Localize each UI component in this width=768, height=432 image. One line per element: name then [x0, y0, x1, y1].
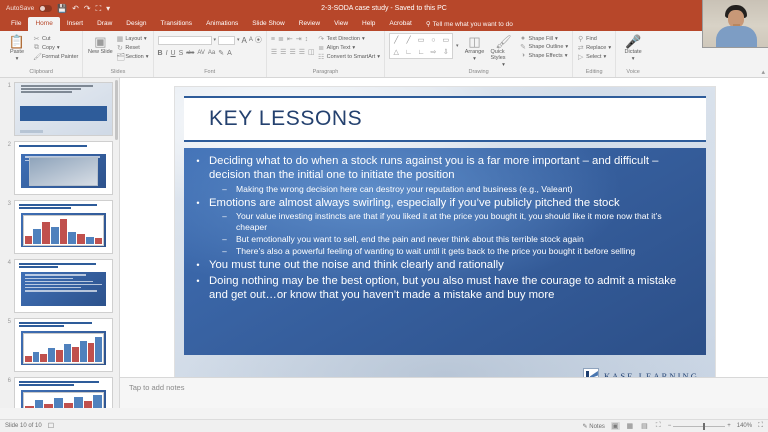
- accessibility-icon[interactable]: ☐: [48, 422, 54, 430]
- save-icon[interactable]: 💾: [57, 4, 67, 13]
- thumbnail-number: 5: [3, 318, 11, 325]
- bullet-marker: •: [194, 274, 202, 303]
- text-shadow-button[interactable]: S: [179, 50, 184, 57]
- paragraph-group-label: Paragraph: [271, 69, 380, 77]
- search-icon: ⚲: [577, 35, 584, 43]
- zoom-slider[interactable]: − +: [668, 423, 731, 429]
- undo-icon[interactable]: ↶: [72, 4, 79, 13]
- quick-styles-icon: 🖌: [495, 35, 512, 48]
- bullet-text: Making the wrong decision here can destr…: [236, 184, 573, 195]
- bullet-item: – There’s also a powerful feeling of wan…: [194, 246, 692, 257]
- convert-smartart-button[interactable]: ☷ Convert to SmartArt ▾: [318, 53, 380, 61]
- tab-insert[interactable]: Insert: [60, 17, 90, 31]
- shape-outline-label: Shape Outline: [529, 44, 564, 50]
- new-slide-icon: ▣: [94, 35, 106, 48]
- chevron-down-icon: ▾: [565, 53, 568, 59]
- slide-title-placeholder[interactable]: KEY LESSONS: [184, 96, 706, 142]
- slides-group-label: Slides: [87, 69, 148, 77]
- find-label: Find: [586, 36, 597, 42]
- chevron-down-icon: ▾: [57, 45, 60, 51]
- tab-slide-show[interactable]: Slide Show: [245, 17, 292, 31]
- chevron-down-icon: ▾: [608, 45, 611, 51]
- bullet-item: – Your value investing instincts are tha…: [194, 211, 692, 233]
- font-group-label: Font: [158, 69, 262, 77]
- bullet-marker: •: [194, 154, 202, 183]
- slideshow-icon[interactable]: ⛶: [655, 422, 662, 430]
- tab-file[interactable]: File: [4, 17, 28, 31]
- text-direction-button[interactable]: ↷ Text Direction ▾: [318, 35, 380, 43]
- zoom-level-label[interactable]: 140%: [737, 423, 752, 429]
- bullet-item: • Deciding what to do when a stock runs …: [194, 154, 692, 183]
- shape-fill-button[interactable]: ● Shape Fill ▾: [520, 35, 569, 42]
- search-icon: ⚲: [426, 20, 431, 28]
- tab-acrobat[interactable]: Acrobat: [382, 17, 418, 31]
- status-bar: Slide 10 of 10 ☐ ✎ Notes ▣ ▦ ▤ ⛶ − + 140…: [0, 419, 768, 432]
- new-slide-label: New Slide: [88, 49, 113, 55]
- shapes-more-icon[interactable]: ▾: [456, 33, 459, 49]
- chevron-down-icon: ▾: [502, 62, 505, 68]
- dictate-button[interactable]: 🎤 Dictate ▾: [620, 33, 646, 62]
- tab-help[interactable]: Help: [355, 17, 382, 31]
- chevron-down-icon[interactable]: ▾: [214, 37, 217, 43]
- tab-review[interactable]: Review: [292, 17, 327, 31]
- clipboard-group-label: Clipboard: [4, 69, 78, 77]
- replace-icon: ⇄: [577, 44, 584, 52]
- bullet-marker: –: [220, 234, 229, 245]
- thumbnail-number: 3: [3, 200, 11, 207]
- notes-toggle-button[interactable]: ✎ Notes: [583, 423, 605, 430]
- smartart-icon: ☷: [318, 53, 325, 61]
- redo-icon[interactable]: ↷: [84, 4, 91, 13]
- bullet-item: • Emotions are almost always swirling, e…: [194, 196, 692, 210]
- tell-me-search[interactable]: ⚲ Tell me what you want to do: [419, 18, 520, 31]
- paintbrush-icon: 🖌: [33, 53, 40, 61]
- arrow-shape-icon[interactable]: ╱: [407, 36, 411, 44]
- scissors-icon: ✂: [33, 35, 40, 43]
- layout-icon: ▦: [116, 35, 123, 43]
- paste-label: Paste: [10, 49, 24, 55]
- slide-thumbnail-5[interactable]: 5: [0, 318, 119, 377]
- new-slide-button[interactable]: ▣ New Slide: [87, 33, 113, 55]
- reading-view-icon[interactable]: ▤: [640, 422, 649, 430]
- bullet-text: You must tune out the noise and think cl…: [209, 258, 504, 272]
- cut-button[interactable]: ✂ Cut: [33, 35, 78, 43]
- reset-button[interactable]: ↻ Reset: [116, 44, 148, 52]
- highlight-icon[interactable]: ✎: [218, 49, 224, 57]
- justify-icon[interactable]: ☰: [299, 48, 305, 56]
- notes-pane[interactable]: Tap to add notes: [120, 377, 768, 408]
- thumbnail-number: 6: [3, 377, 11, 384]
- find-button[interactable]: ⚲ Find: [577, 35, 611, 43]
- change-case-button[interactable]: Aa: [208, 50, 215, 56]
- thumbnail-number: 2: [3, 141, 11, 148]
- line-shape-icon[interactable]: ╱: [394, 36, 398, 44]
- bullet-item: – But emotionally you want to sell, end …: [194, 234, 692, 245]
- tab-design[interactable]: Design: [119, 17, 153, 31]
- chevron-down-icon: ▾: [603, 54, 606, 60]
- tab-animations[interactable]: Animations: [199, 17, 245, 31]
- chevron-down-icon: ▾: [473, 56, 476, 62]
- thumbnail-scrollbar[interactable]: [114, 78, 119, 408]
- quick-styles-button[interactable]: 🖌 Quick Styles ▾: [491, 33, 517, 68]
- chevron-down-icon: ▾: [16, 56, 19, 62]
- ribbon-tabs: File Home Insert Draw Design Transitions…: [0, 17, 768, 31]
- editing-group-label: Editing: [577, 69, 611, 77]
- section-icon: 🗂: [116, 53, 123, 61]
- bullets-icon[interactable]: ≡: [271, 36, 275, 43]
- replace-button[interactable]: ⇄ Replace ▾: [577, 44, 611, 52]
- oval-shape-icon[interactable]: ○: [431, 37, 435, 44]
- slide-counter: Slide 10 of 10: [5, 423, 42, 429]
- text-direction-icon: ↷: [318, 35, 325, 43]
- reset-icon: ↻: [116, 44, 123, 52]
- ribbon: 📋 Paste ▾ ✂ Cut ⧉ Copy ▾ 🖌: [0, 31, 768, 78]
- decrease-indent-icon[interactable]: ⇤: [287, 35, 293, 43]
- current-slide[interactable]: KEY LESSONS • Deciding what to do when a…: [175, 87, 715, 391]
- convert-smartart-label: Convert to SmartArt: [327, 54, 376, 60]
- copy-button[interactable]: ⧉ Copy ▾: [33, 44, 78, 52]
- quick-styles-label: Quick Styles: [491, 49, 517, 61]
- drawing-group-label: Drawing: [389, 69, 568, 77]
- shrink-font-button[interactable]: A: [249, 37, 253, 43]
- shape-fill-icon: ●: [520, 35, 527, 42]
- tab-draw[interactable]: Draw: [90, 17, 119, 31]
- grow-font-button[interactable]: A: [242, 36, 247, 45]
- ribbon-group-font: ▾ ▾ A A ⦿ B I U S abc AV Aa: [153, 31, 266, 77]
- present-icon[interactable]: ⛶: [96, 4, 102, 14]
- font-size-input[interactable]: [218, 36, 235, 45]
- character-spacing-button[interactable]: AV: [197, 50, 205, 56]
- bullet-marker: –: [220, 184, 229, 195]
- shape-effects-label: Shape Effects: [529, 53, 563, 59]
- bullet-item: • Doing nothing may be the best option, …: [194, 274, 692, 303]
- chevron-down-icon: ▾: [146, 54, 149, 60]
- font-color-button[interactable]: A: [227, 50, 232, 57]
- ribbon-group-clipboard: 📋 Paste ▾ ✂ Cut ⧉ Copy ▾ 🖌: [0, 31, 82, 77]
- zoom-out-button[interactable]: −: [668, 423, 672, 429]
- right-arrow-shape-icon[interactable]: ⇨: [430, 48, 436, 56]
- tab-transitions[interactable]: Transitions: [154, 17, 200, 31]
- quick-access-toolbar: AutoSave 💾 ↶ ↷ ⛶ ▾: [0, 4, 210, 14]
- powerpoint-window: AutoSave 💾 ↶ ↷ ⛶ ▾ 2-3-SODA case study -…: [0, 0, 768, 432]
- reset-label: Reset: [125, 45, 139, 51]
- slide-thumbnail-pane[interactable]: 1 2 3: [0, 78, 120, 408]
- format-painter-label: Format Painter: [42, 54, 78, 60]
- section-label: Section: [125, 54, 143, 60]
- bullet-item: – Making the wrong decision here can des…: [194, 184, 692, 195]
- bullet-text: Your value investing instincts are that …: [236, 211, 692, 233]
- slide-thumbnail-3[interactable]: 3: [0, 200, 119, 259]
- bullet-text: But emotionally you want to sell, end th…: [236, 234, 584, 245]
- columns-icon[interactable]: ◫: [308, 48, 315, 56]
- bullet-text: Emotions are almost always swirling, esp…: [209, 196, 620, 210]
- microphone-icon: 🎤: [625, 35, 641, 48]
- align-center-icon[interactable]: ☰: [280, 48, 286, 56]
- slide-sorter-icon[interactable]: ▦: [626, 422, 635, 430]
- bullet-marker: –: [220, 246, 229, 257]
- replace-label: Replace: [586, 45, 606, 51]
- voice-group-label: Voice: [620, 69, 646, 77]
- autosave-label: AutoSave: [6, 5, 34, 12]
- cut-label: Cut: [42, 36, 51, 42]
- select-icon: ▷: [577, 53, 584, 61]
- curved-connector-icon[interactable]: ∟: [418, 49, 425, 56]
- ribbon-group-paragraph: ≡ ≣ ⇤ ⇥ ↕ ☰ ☰ ☰ ☰ ◫: [266, 31, 384, 77]
- normal-view-icon[interactable]: ▣: [611, 422, 620, 430]
- text-direction-label: Text Direction: [327, 36, 360, 42]
- chevron-down-icon: ▾: [362, 36, 365, 42]
- slide-editing-stage: KEY LESSONS • Deciding what to do when a…: [120, 78, 768, 408]
- ribbon-group-voice: 🎤 Dictate ▾ Voice: [615, 31, 650, 77]
- elbow-connector-icon[interactable]: ∟: [405, 49, 412, 56]
- notes-toggle-label: Notes: [589, 424, 605, 430]
- tell-me-label: Tell me what you want to do: [433, 21, 513, 28]
- chevron-down-icon: ▾: [144, 36, 147, 42]
- chevron-down-icon: ▾: [632, 56, 635, 62]
- clear-formatting-icon[interactable]: ⦿: [255, 35, 262, 45]
- tab-view[interactable]: View: [327, 17, 355, 31]
- align-text-label: Align Text: [327, 45, 351, 51]
- arrange-label: Arrange: [465, 49, 485, 55]
- down-arrow-shape-icon[interactable]: ⇩: [443, 48, 449, 56]
- shape-effects-icon: ◑: [520, 52, 527, 59]
- bullet-marker: •: [194, 258, 202, 272]
- fit-to-window-icon[interactable]: ⛶: [758, 422, 763, 430]
- align-left-icon[interactable]: ☰: [271, 48, 277, 56]
- shapes-gallery[interactable]: ╱ ╱ ▭ ○ ▭ △ ∟ ∟ ⇨ ⇩: [389, 33, 453, 59]
- increase-indent-icon[interactable]: ⇥: [296, 35, 302, 43]
- chevron-down-icon[interactable]: ▾: [106, 4, 110, 13]
- slide-thumbnail-1[interactable]: 1: [0, 82, 119, 141]
- notes-placeholder: Tap to add notes: [129, 383, 184, 392]
- triangle-shape-icon[interactable]: △: [394, 48, 399, 56]
- arrange-icon: ◫: [468, 35, 480, 48]
- webcam-person-body: [716, 26, 757, 48]
- bullet-item: • You must tune out the noise and think …: [194, 258, 692, 272]
- thumbnail-number: 1: [3, 82, 11, 89]
- chevron-down-icon[interactable]: ▾: [237, 37, 240, 43]
- thumbnail-number: 4: [3, 259, 11, 266]
- autosave-toggle[interactable]: [39, 5, 52, 12]
- copy-label: Copy: [42, 45, 55, 51]
- dictate-label: Dictate: [625, 49, 642, 55]
- zoom-in-button[interactable]: +: [727, 423, 731, 429]
- align-text-icon: ≣: [318, 44, 325, 52]
- rectangle-shape-icon[interactable]: ▭: [418, 36, 425, 44]
- chevron-down-icon: ▾: [565, 44, 568, 50]
- layout-button[interactable]: ▦ Layout ▾: [116, 35, 148, 43]
- italic-button[interactable]: I: [166, 50, 168, 57]
- layout-label: Layout: [125, 36, 142, 42]
- bullet-text: Doing nothing may be the best option, bu…: [209, 274, 692, 303]
- bullet-text: Deciding what to do when a stock runs ag…: [209, 154, 692, 183]
- tab-home[interactable]: Home: [28, 17, 59, 31]
- paste-icon: 📋: [9, 35, 25, 48]
- select-button[interactable]: ▷ Select ▾: [577, 53, 611, 61]
- arrange-button[interactable]: ◫ Arrange ▾: [462, 33, 488, 62]
- rounded-rect-shape-icon[interactable]: ▭: [442, 36, 449, 44]
- chevron-down-icon: ▾: [555, 36, 558, 42]
- page-title: KEY LESSONS: [184, 107, 362, 131]
- ribbon-group-drawing: ╱ ╱ ▭ ○ ▭ △ ∟ ∟ ⇨ ⇩ ▾ ◫ Arrange ▾: [384, 31, 572, 77]
- title-bar: AutoSave 💾 ↶ ↷ ⛶ ▾ 2-3-SODA case study -…: [0, 0, 768, 17]
- ribbon-group-editing: ⚲ Find ⇄ Replace ▾ ▷ Select ▾ Editing: [572, 31, 615, 77]
- paste-button[interactable]: 📋 Paste ▾: [4, 33, 30, 62]
- bullet-marker: –: [220, 211, 229, 233]
- bullet-text: There’s also a powerful feeling of wanti…: [236, 246, 635, 257]
- shape-outline-button[interactable]: ✎ Shape Outline ▾: [520, 43, 569, 51]
- select-label: Select: [586, 54, 601, 60]
- shape-effects-button[interactable]: ◑ Shape Effects ▾: [520, 52, 569, 59]
- collapse-ribbon-icon[interactable]: ▴: [761, 68, 765, 76]
- zoom-track[interactable]: [673, 426, 725, 427]
- chevron-down-icon: ▾: [352, 45, 355, 51]
- shape-fill-label: Shape Fill: [529, 36, 553, 42]
- align-text-button[interactable]: ≣ Align Text ▾: [318, 44, 380, 52]
- main-area: 1 2 3: [0, 78, 768, 408]
- bullet-marker: •: [194, 196, 202, 210]
- shape-outline-icon: ✎: [520, 43, 527, 51]
- slide-thumbnail-4[interactable]: 4: [0, 259, 119, 318]
- font-name-input[interactable]: [158, 36, 212, 45]
- zoom-thumb[interactable]: [703, 423, 705, 430]
- webcam-video-overlay[interactable]: [702, 0, 768, 48]
- bold-button[interactable]: B: [158, 50, 163, 57]
- slide-thumbnail-6[interactable]: 6: [0, 377, 119, 408]
- section-button[interactable]: 🗂 Section ▾: [116, 53, 148, 61]
- underline-button[interactable]: U: [171, 50, 176, 57]
- line-spacing-icon[interactable]: ↕: [305, 36, 309, 43]
- format-painter-button[interactable]: 🖌 Format Painter: [33, 53, 78, 61]
- slide-thumbnail-2[interactable]: 2: [0, 141, 119, 200]
- copy-icon: ⧉: [33, 44, 40, 52]
- numbering-icon[interactable]: ≣: [278, 35, 284, 43]
- ribbon-group-slides: ▣ New Slide ▦ Layout ▾ ↻ Reset 🗂: [82, 31, 152, 77]
- strikethrough-button[interactable]: abc: [186, 50, 194, 56]
- chevron-down-icon: ▾: [377, 54, 380, 60]
- slide-body-placeholder[interactable]: • Deciding what to do when a stock runs …: [184, 148, 706, 355]
- align-right-icon[interactable]: ☰: [289, 48, 295, 56]
